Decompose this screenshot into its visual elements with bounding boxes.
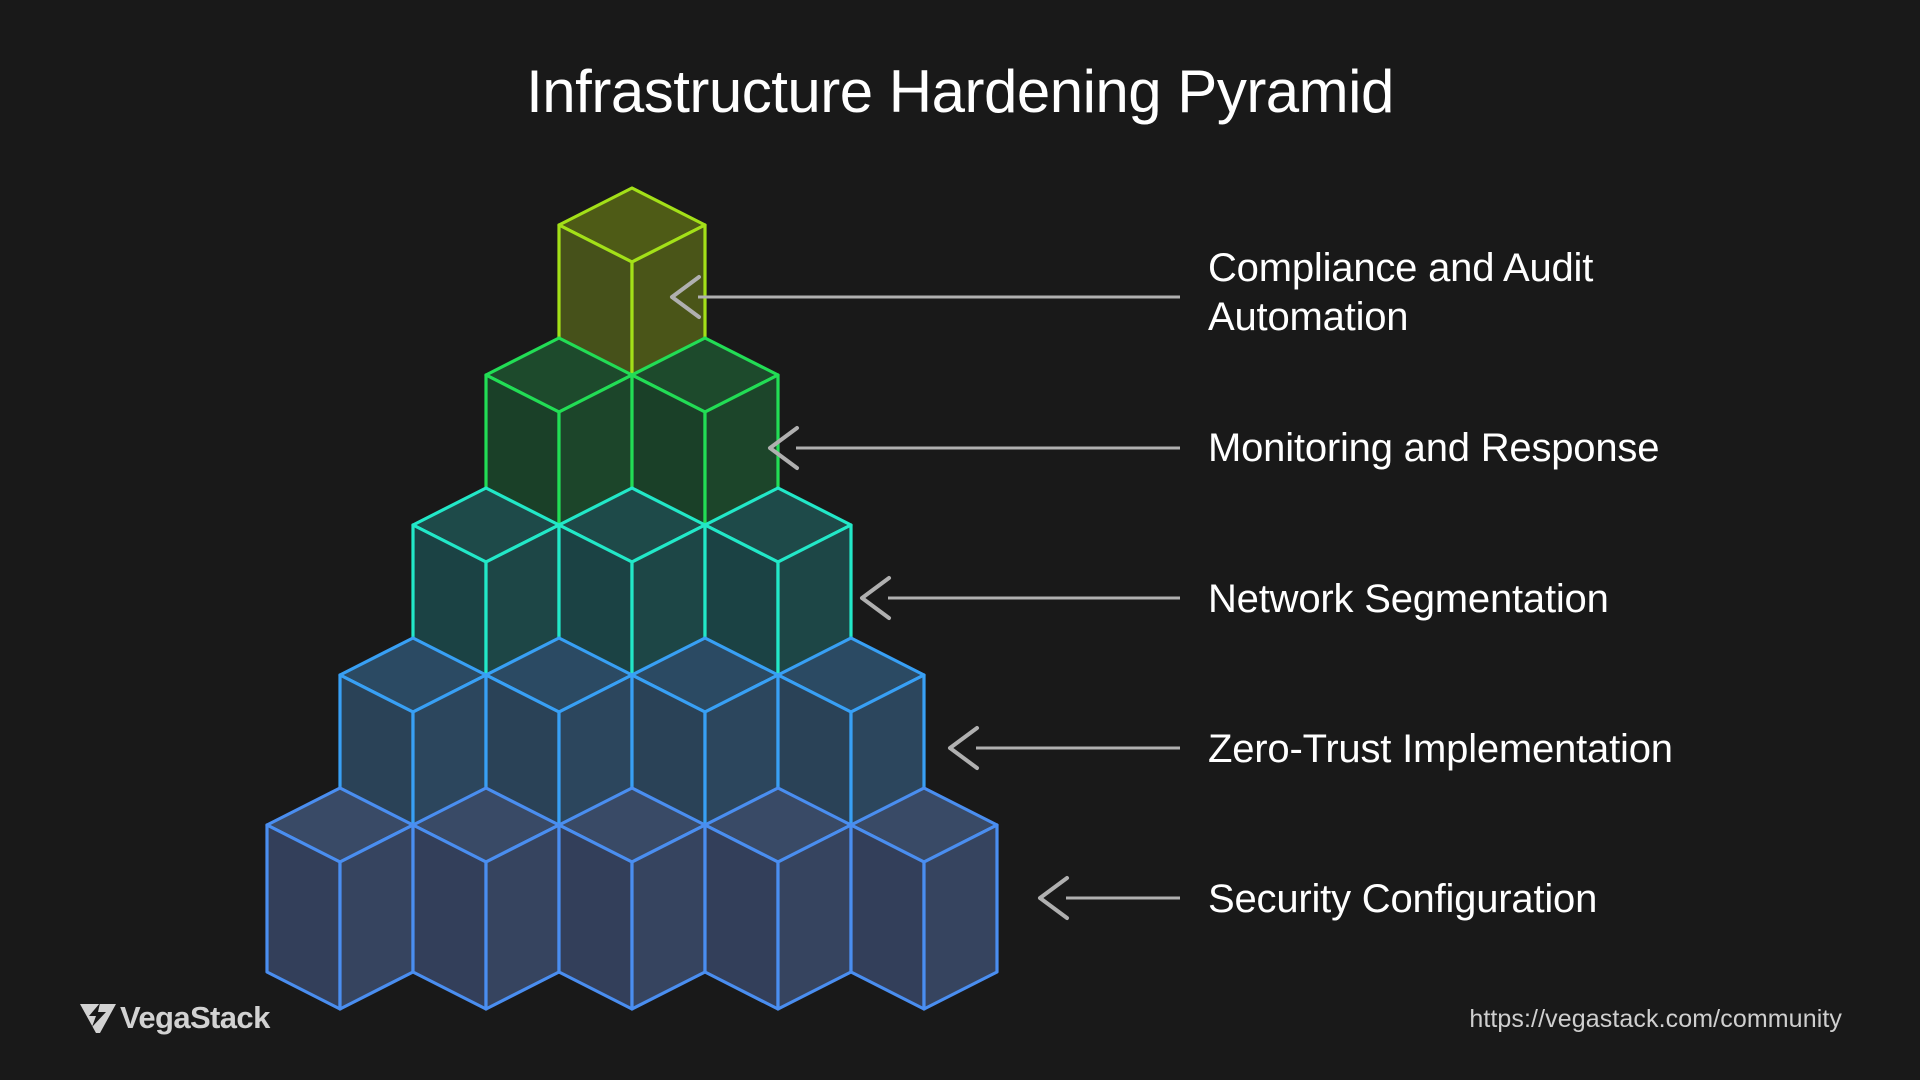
cube-tier-4-0 <box>267 788 413 1009</box>
tier-label-2: Network Segmentation <box>1208 575 1609 624</box>
connector-arrowhead-tier-4 <box>1040 878 1067 918</box>
connector-arrowhead-tier-2 <box>862 578 889 618</box>
vegastack-bolt-icon <box>78 1001 118 1035</box>
tier-label-0: Compliance and Audit Automation <box>1208 244 1593 342</box>
cube-tier-4-4 <box>851 788 997 1009</box>
cube-tier-4-2 <box>559 788 705 1009</box>
footer-brand-name: VegaStack <box>120 1000 270 1036</box>
cube-tier-4-3 <box>705 788 851 1009</box>
footer-url[interactable]: https://vegastack.com/community <box>1469 1005 1842 1034</box>
connector-arrowhead-tier-3 <box>950 728 977 768</box>
cube-stack <box>267 188 997 1009</box>
tier-label-1: Monitoring and Response <box>1208 424 1659 473</box>
cube-tier-4-1 <box>413 788 559 1009</box>
tier-label-3: Zero-Trust Implementation <box>1208 725 1673 774</box>
footer-brand[interactable]: VegaStack <box>78 1000 270 1036</box>
pyramid-diagram <box>0 0 1920 1080</box>
tier-label-4: Security Configuration <box>1208 875 1597 924</box>
infographic-canvas: Infrastructure Hardening Pyramid Complia… <box>0 0 1920 1080</box>
